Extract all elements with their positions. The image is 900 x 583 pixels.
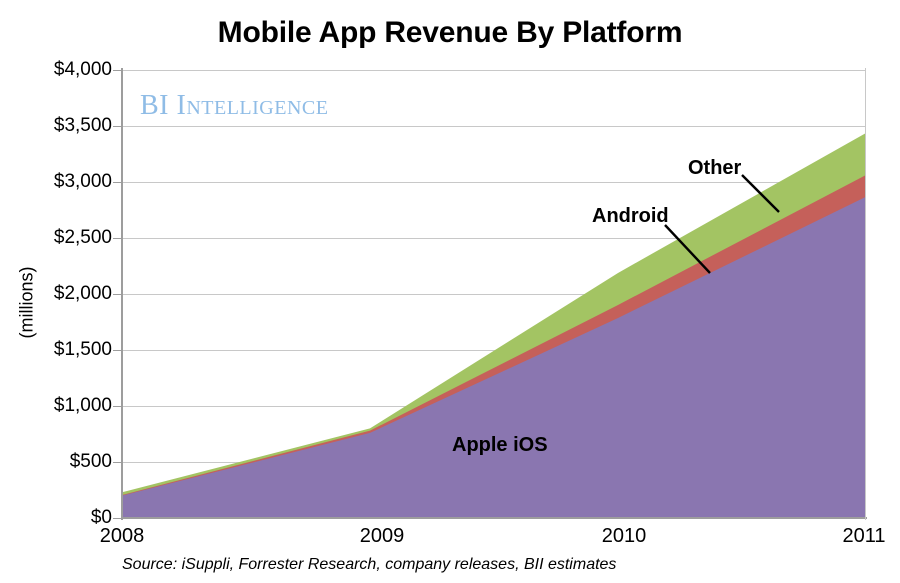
y-tick-label-500: $500 [22,451,112,473]
x-tick-label-2011: 2011 [842,525,885,548]
x-tick-label-2009: 2009 [360,525,405,548]
y-axis-line [121,68,123,520]
x-axis-line [121,517,867,519]
bi-logo-text: Intelligence [177,90,329,121]
chart-container: Mobile App Revenue By Platform $4,000 $3… [0,0,900,583]
x-tick-label-2008: 2008 [100,525,145,548]
series-label-apple-ios: Apple iOS [452,434,548,457]
plot-right-edge [865,68,866,520]
y-tick-label-3000: $3,000 [22,171,112,193]
chart-title: Mobile App Revenue By Platform [0,16,900,50]
bi-logo-lead: BI [140,90,169,121]
series-label-other: Other [688,157,741,180]
bi-intelligence-logo: BI Intelligence [140,90,328,122]
series-label-android: Android [592,205,669,228]
y-axis-title: (millions) [17,233,38,373]
y-tick-label-4000: $4,000 [22,59,112,81]
y-tick-label-0: $0 [22,507,112,529]
source-note: Source: iSuppli, Forrester Research, com… [122,556,616,574]
y-tick-label-1000: $1,000 [22,395,112,417]
x-tick-label-2010: 2010 [602,525,647,548]
y-tick-label-3500: $3,500 [22,115,112,137]
